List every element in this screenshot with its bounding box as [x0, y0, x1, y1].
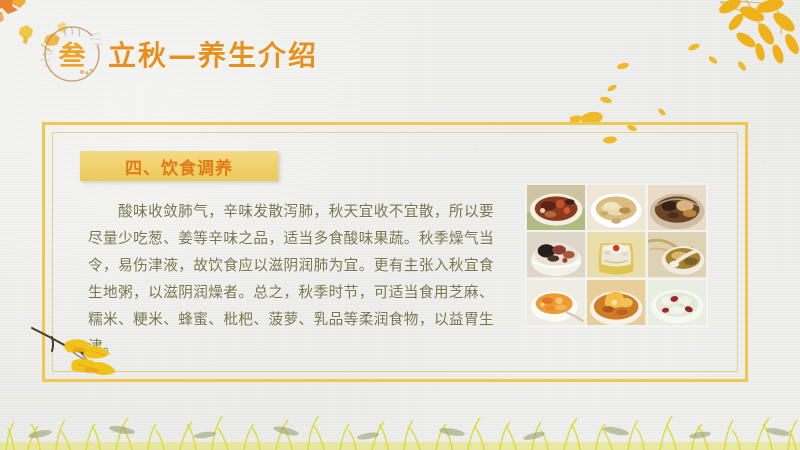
herbal-broth-spoon-photo [648, 232, 706, 277]
carrot-vegetable-soup-photo [527, 280, 585, 325]
slide-canvas: 叁 立秋—养生介绍 四、饮食调养 酸味收敛肺气，辛味发散泻肺，秋天宜收不宜散，所… [0, 0, 800, 450]
badge-number-label: 叁 [38, 20, 106, 86]
braised-meat-dish-photo [527, 185, 585, 230]
section-number-badge: 叁 [38, 20, 106, 86]
section-heading-band: 四、饮食调养 [80, 151, 278, 181]
section-heading-label: 四、饮食调养 [125, 154, 233, 179]
steamed-rice-dumpling-photo [587, 232, 645, 277]
white-fungus-jujube-dessert-photo [648, 280, 706, 325]
ginkgo-branch-decoration [30, 326, 160, 394]
mushroom-stew-pot-photo [648, 185, 706, 230]
slide-header: 叁 立秋—养生介绍 [0, 0, 800, 100]
food-photo-grid [525, 183, 708, 327]
pumpkin-curry-soup-photo [587, 280, 645, 325]
chicken-soup-casserole-photo [587, 185, 645, 230]
page-title: 立秋—养生介绍 [108, 34, 318, 74]
grass-silhouette-decoration [0, 390, 800, 450]
black-fungus-soup-photo [527, 232, 585, 277]
